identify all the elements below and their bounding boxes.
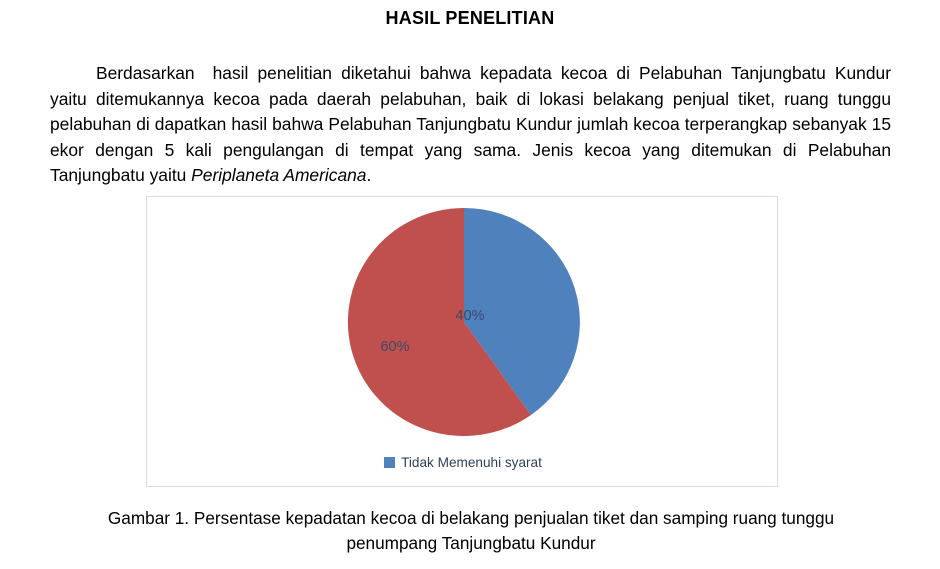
- pie-chart-plot-area: 40% 60%: [147, 197, 779, 442]
- legend-swatch-icon: [384, 457, 395, 468]
- pie-label-40: 40%: [455, 308, 484, 324]
- chart-legend: Tidak Memenuhi syarat: [147, 455, 779, 470]
- document-page: HASIL PENELITIAN Berdasarkanhasil peneli…: [0, 0, 940, 569]
- paragraph-text-part3: .: [366, 165, 371, 185]
- species-name: Periplaneta Americana: [191, 165, 366, 185]
- page-title: HASIL PENELITIAN: [0, 8, 940, 29]
- chart-container: 40% 60% Tidak Memenuhi syarat: [146, 196, 778, 487]
- body-paragraph: Berdasarkanhasil penelitian diketahui ba…: [50, 61, 891, 189]
- legend-item-label: Tidak Memenuhi syarat: [401, 455, 542, 470]
- figure-caption: Gambar 1. Persentase kepadatan kecoa di …: [86, 506, 856, 556]
- legend-item-tidak-memenuhi-syarat[interactable]: Tidak Memenuhi syarat: [384, 455, 542, 470]
- paragraph-text-part1: Berdasarkan: [96, 63, 195, 83]
- pie-label-60: 60%: [380, 339, 409, 355]
- pie-chart-svg: 40% 60%: [348, 208, 580, 436]
